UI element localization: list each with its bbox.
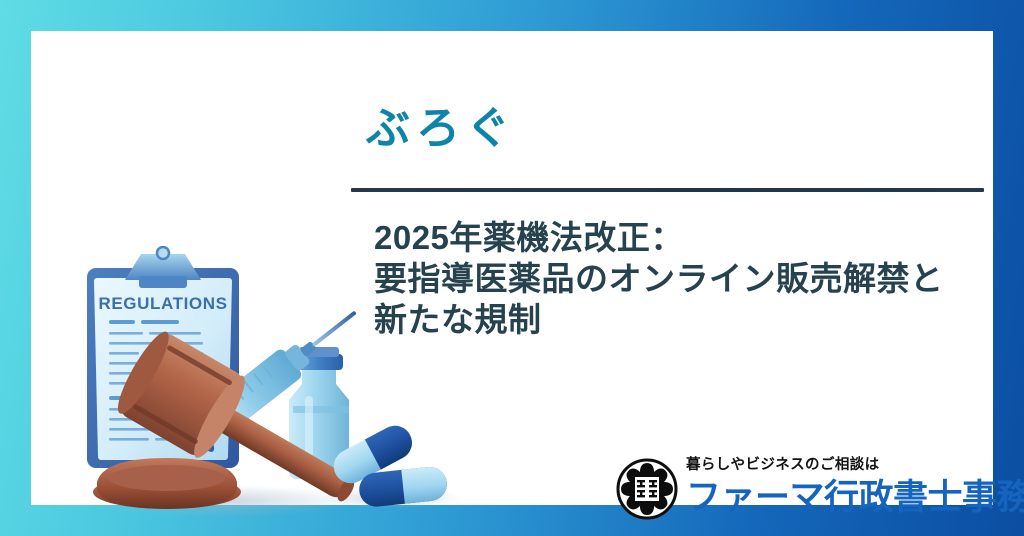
logo-tagline: 暮らしやビジネスのご相談は [686,455,1016,475]
title-line-3: 新たな規制 [374,299,974,340]
blog-header-banner: REGULATIONS [0,0,1024,536]
svg-text:REGULATIONS: REGULATIONS [98,294,227,313]
title-line-2: 要指導医薬品のオンライン販売解禁と [374,258,974,299]
header-divider [351,188,984,192]
logo-brand-name: ファーマ行政書士事務所 [686,476,1016,520]
page-title: 2025年薬機法改正： 要指導医薬品のオンライン販売解禁と 新たな規制 [374,217,974,340]
chrysanthemum-seal-icon [616,458,678,520]
title-line-1: 2025年薬機法改正： [374,217,974,258]
sound-block-icon [93,458,241,509]
page-kicker: ぶろぐ [366,107,516,151]
logo-text-block: 暮らしやビジネスのご相談は ファーマ行政書士事務所 [686,455,1016,520]
white-content-panel: REGULATIONS [31,31,993,505]
brand-logo: 暮らしやビジネスのご相談は ファーマ行政書士事務所 [616,455,1016,529]
